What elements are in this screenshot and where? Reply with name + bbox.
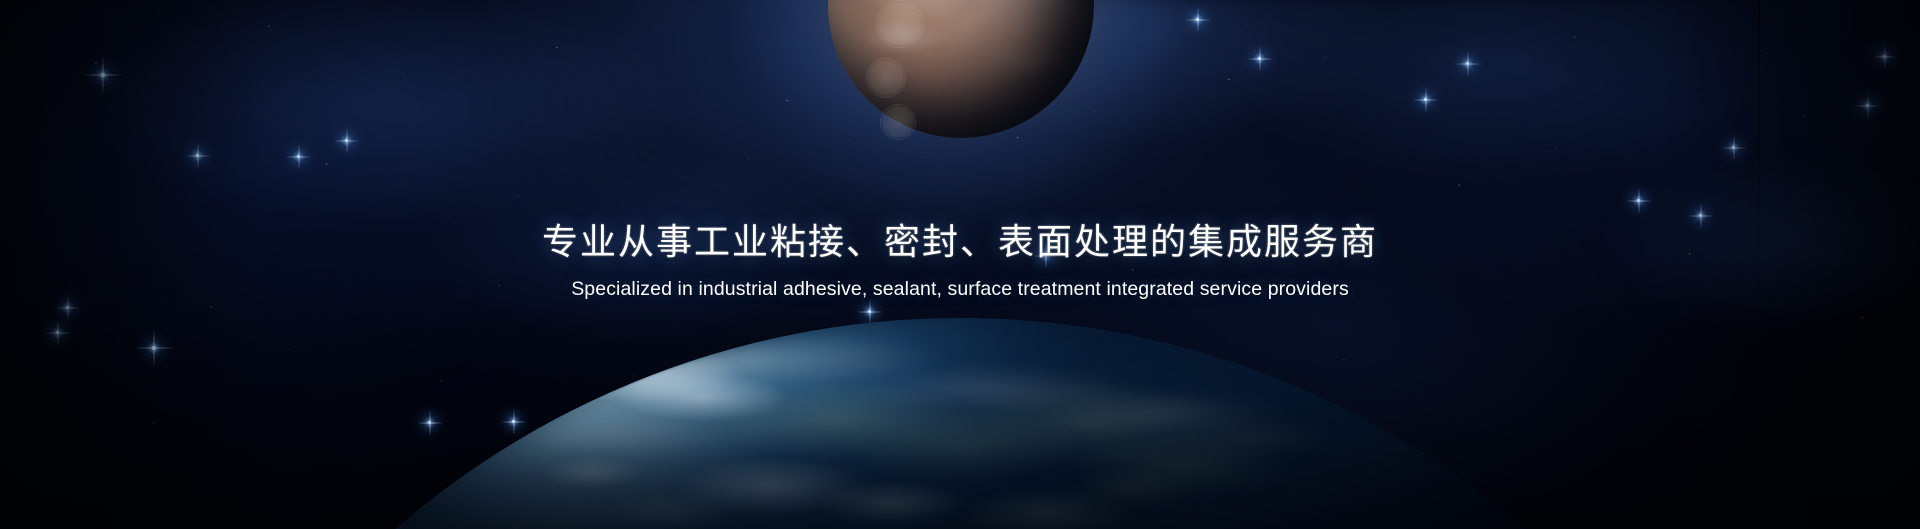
star-icon: [56, 331, 59, 334]
star-icon: [1466, 62, 1469, 65]
rocky-planet: [828, 0, 1094, 138]
star-icon: [66, 306, 69, 309]
banner-headline-block: 专业从事工业粘接、密封、表面处理的集成服务商 Specialized in in…: [0, 221, 1920, 301]
headline-english: Specialized in industrial adhesive, seal…: [0, 277, 1920, 301]
star-icon: [1637, 199, 1640, 202]
star-icon: [1732, 146, 1735, 149]
bokeh-circle: [880, 104, 916, 140]
bokeh-circle: [866, 58, 906, 98]
star-icon: [1424, 98, 1427, 101]
star-icon: [1866, 104, 1869, 107]
star-icon: [1883, 55, 1886, 58]
star-icon: [196, 154, 199, 157]
earth: [100, 318, 1820, 529]
star-icon: [1196, 18, 1199, 21]
star-icon: [297, 155, 300, 158]
star-icon: [345, 139, 348, 142]
hero-banner: 专业从事工业粘接、密封、表面处理的集成服务商 Specialized in in…: [0, 0, 1920, 529]
headline-chinese: 专业从事工业粘接、密封、表面处理的集成服务商: [0, 221, 1920, 263]
star-icon: [1699, 214, 1702, 217]
bokeh-circle: [876, 0, 924, 48]
star-icon: [1258, 57, 1261, 60]
star-icon: [101, 73, 105, 77]
earth-limb-highlight: [100, 318, 1820, 529]
